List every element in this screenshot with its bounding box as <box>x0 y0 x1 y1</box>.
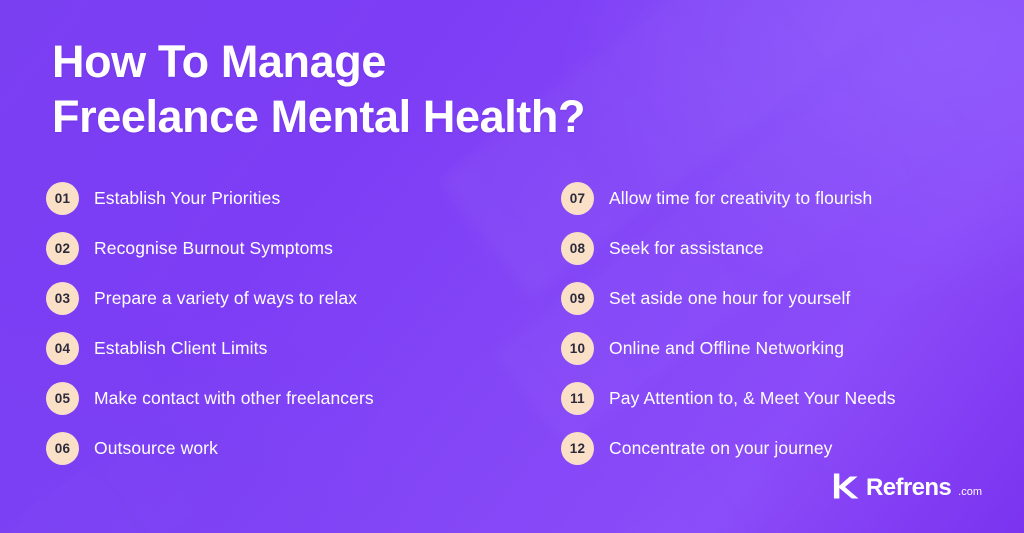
list-columns: 01 Establish Your Priorities 02 Recognis… <box>46 182 976 465</box>
list-item: 08 Seek for assistance <box>561 232 976 265</box>
brand-logo: Refrens .com <box>832 472 982 500</box>
item-number-badge: 04 <box>46 332 79 365</box>
brand-tld: .com <box>958 487 982 500</box>
list-item: 01 Establish Your Priorities <box>46 182 511 215</box>
item-label: Set aside one hour for yourself <box>609 288 850 309</box>
list-item: 09 Set aside one hour for yourself <box>561 282 976 315</box>
item-label: Outsource work <box>94 438 218 459</box>
item-number-badge: 03 <box>46 282 79 315</box>
item-label: Pay Attention to, & Meet Your Needs <box>609 388 896 409</box>
item-number-badge: 10 <box>561 332 594 365</box>
item-label: Recognise Burnout Symptoms <box>94 238 333 259</box>
item-number-badge: 02 <box>46 232 79 265</box>
refrens-r-mark-icon <box>832 472 859 500</box>
item-number-badge: 09 <box>561 282 594 315</box>
list-item: 06 Outsource work <box>46 432 511 465</box>
item-label: Allow time for creativity to flourish <box>609 188 872 209</box>
list-item: 02 Recognise Burnout Symptoms <box>46 232 511 265</box>
item-number-badge: 01 <box>46 182 79 215</box>
brand-name: Refrens <box>866 476 951 500</box>
item-label: Make contact with other freelancers <box>94 388 374 409</box>
page-title: How To Manage Freelance Mental Health? <box>52 34 585 145</box>
list-item: 12 Concentrate on your journey <box>561 432 976 465</box>
list-item: 05 Make contact with other freelancers <box>46 382 511 415</box>
list-item: 03 Prepare a variety of ways to relax <box>46 282 511 315</box>
list-column-right: 07 Allow time for creativity to flourish… <box>511 182 976 465</box>
infographic-poster: How To Manage Freelance Mental Health? 0… <box>0 0 1024 533</box>
list-column-left: 01 Establish Your Priorities 02 Recognis… <box>46 182 511 465</box>
item-number-badge: 07 <box>561 182 594 215</box>
list-item: 07 Allow time for creativity to flourish <box>561 182 976 215</box>
item-number-badge: 12 <box>561 432 594 465</box>
list-item: 10 Online and Offline Networking <box>561 332 976 365</box>
list-item: 11 Pay Attention to, & Meet Your Needs <box>561 382 976 415</box>
item-number-badge: 06 <box>46 432 79 465</box>
item-label: Prepare a variety of ways to relax <box>94 288 357 309</box>
item-label: Concentrate on your journey <box>609 438 833 459</box>
item-number-badge: 05 <box>46 382 79 415</box>
item-number-badge: 08 <box>561 232 594 265</box>
item-label: Establish Your Priorities <box>94 188 280 209</box>
item-label: Seek for assistance <box>609 238 764 259</box>
item-number-badge: 11 <box>561 382 594 415</box>
list-item: 04 Establish Client Limits <box>46 332 511 365</box>
item-label: Establish Client Limits <box>94 338 267 359</box>
item-label: Online and Offline Networking <box>609 338 844 359</box>
